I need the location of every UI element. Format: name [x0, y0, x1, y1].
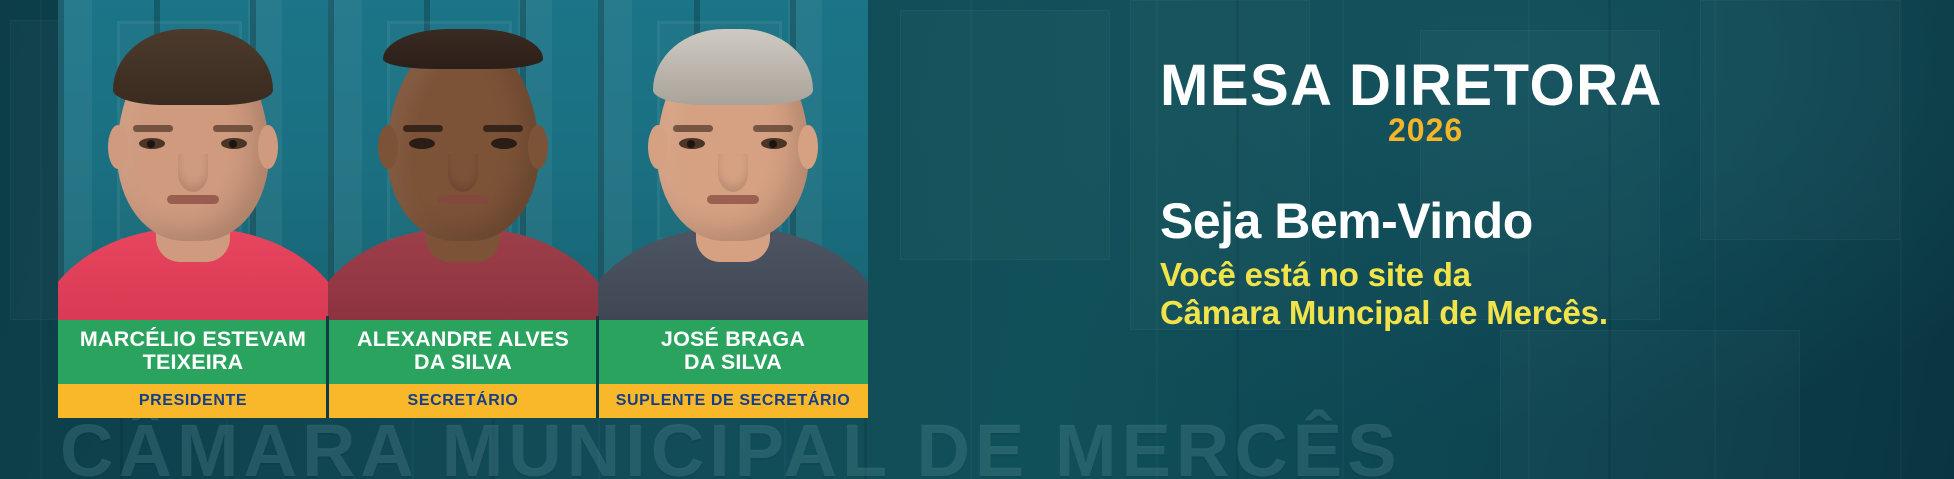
mesa-diretora-banner: CÂMARA MUNICIPAL DE MERCÊS [0, 0, 1954, 479]
portrait-figure [58, 0, 328, 345]
member-name-line2: DA SILVA [602, 351, 864, 374]
member-nameplate: JOSÉ BRAGA DA SILVA SUPLENTE DE SECRETÁR… [598, 320, 868, 418]
member-role: SECRETÁRIO [328, 384, 598, 418]
eyebrow-left [403, 125, 443, 132]
welcome-subtitle-line2: Câmara Muncipal de Mercês. [1160, 294, 1608, 332]
head [117, 35, 269, 241]
welcome-heading: Seja Bem-Vindo [1160, 192, 1533, 250]
member-photo [598, 0, 868, 345]
member-name-line1: JOSÉ BRAGA [602, 328, 864, 351]
eye-left [139, 138, 165, 149]
member-name-line2: TEIXEIRA [62, 351, 324, 374]
nose [178, 154, 208, 192]
member-photo [328, 0, 598, 345]
welcome-subtitle-line1: Você está no site da [1160, 256, 1608, 294]
eye-left [409, 138, 435, 149]
portrait-figure [598, 0, 868, 345]
member-name-line1: ALEXANDRE ALVES [332, 328, 594, 351]
mouth [707, 195, 759, 204]
ear-left [648, 125, 668, 169]
eye-right [491, 138, 517, 149]
member-name-line2: DA SILVA [332, 351, 594, 374]
member-nameplate: ALEXANDRE ALVES DA SILVA SECRETÁRIO [328, 320, 598, 418]
portrait-figure [328, 0, 598, 345]
eyebrow-right [483, 125, 523, 132]
member-name: MARCÉLIO ESTEVAM TEIXEIRA [58, 320, 328, 384]
member-nameplate: MARCÉLIO ESTEVAM TEIXEIRA PRESIDENTE [58, 320, 328, 418]
ear-right [528, 125, 548, 169]
member-name: JOSÉ BRAGA DA SILVA [598, 320, 868, 384]
eyebrow-right [213, 125, 253, 132]
eyebrow-left [133, 125, 173, 132]
head [387, 35, 539, 241]
nose [448, 154, 478, 192]
ear-left [108, 125, 128, 169]
hair [653, 29, 813, 105]
member-role: PRESIDENTE [58, 384, 328, 418]
eye-right [221, 138, 247, 149]
mouth [167, 195, 219, 204]
member-name: ALEXANDRE ALVES DA SILVA [328, 320, 598, 384]
hair [113, 29, 273, 105]
ear-right [798, 125, 818, 169]
eyebrow-left [673, 125, 713, 132]
ear-right [258, 125, 278, 169]
banner-title: MESA DIRETORA [1160, 52, 1663, 119]
hair [383, 29, 543, 69]
banner-copy: MESA DIRETORA 2026 Seja Bem-Vindo Você e… [1150, 0, 1910, 479]
eye-left [679, 138, 705, 149]
banner-year: 2026 [1388, 112, 1463, 149]
nose [718, 154, 748, 192]
member-photo-strip [58, 0, 868, 345]
member-name-line1: MARCÉLIO ESTEVAM [62, 328, 324, 351]
ear-left [378, 125, 398, 169]
member-role: SUPLENTE DE SECRETÁRIO [598, 384, 868, 418]
member-nameplates: MARCÉLIO ESTEVAM TEIXEIRA PRESIDENTE ALE… [58, 320, 868, 418]
welcome-subtitle: Você está no site da Câmara Muncipal de … [1160, 256, 1608, 332]
eyebrow-right [753, 125, 793, 132]
mouth [437, 195, 489, 204]
member-photo [58, 0, 328, 345]
head [657, 35, 809, 241]
eye-right [761, 138, 787, 149]
